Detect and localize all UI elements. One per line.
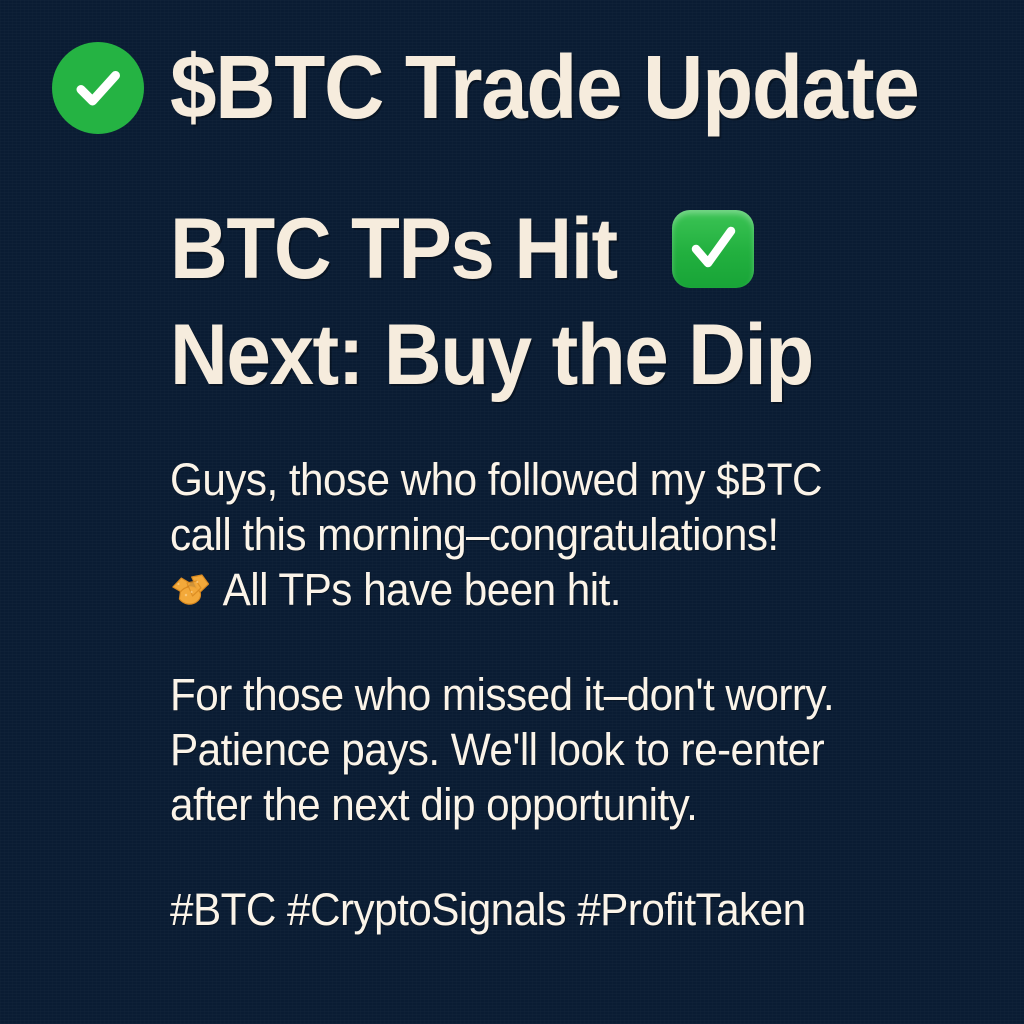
handshake-emoji [170,571,211,611]
headline-text-1: BTC TPs Hit [170,206,617,292]
white-check-mark-emoji [672,210,754,288]
hashtag-line: #BTC #CryptoSignals #ProfitTaken [170,882,913,937]
hashtag-spacer [170,832,960,882]
paragraph-2-line-3: after the next dip opportunity. [170,777,913,832]
paragraph-2: For those who missed it–don't worry. Pat… [170,667,913,832]
body-copy: Guys, those who followed my $BTC call th… [170,452,960,937]
paragraph-2-line-1: For those who missed it–don't worry. [170,667,913,722]
paragraph-1-line-3: All TPs have been hit. [170,562,913,617]
headline-text-2: Next: Buy the Dip [170,312,813,398]
paragraph-1: Guys, those who followed my $BTC call th… [170,452,913,617]
headline-line-2: Next: Buy the Dip [170,302,990,408]
paragraph-1-line-2: call this morning–congratulations! [170,507,913,562]
paragraph-1-line-3-text: All TPs have been hit. [223,564,621,615]
headline-line-1: BTC TPs Hit [170,196,990,302]
green-check-circle-icon [52,42,144,134]
headline-block: BTC TPs Hit Next: Buy the Dip [170,196,990,408]
paragraph-1-line-1: Guys, those who followed my $BTC [170,452,913,507]
page-title: $BTC Trade Update [170,43,918,133]
social-post-card: $BTC Trade Update BTC TPs Hit Next: Buy … [0,0,1024,1024]
paragraph-spacer [170,617,960,667]
paragraph-2-line-2: Patience pays. We'll look to re-enter [170,722,913,777]
title-row: $BTC Trade Update [52,42,975,134]
